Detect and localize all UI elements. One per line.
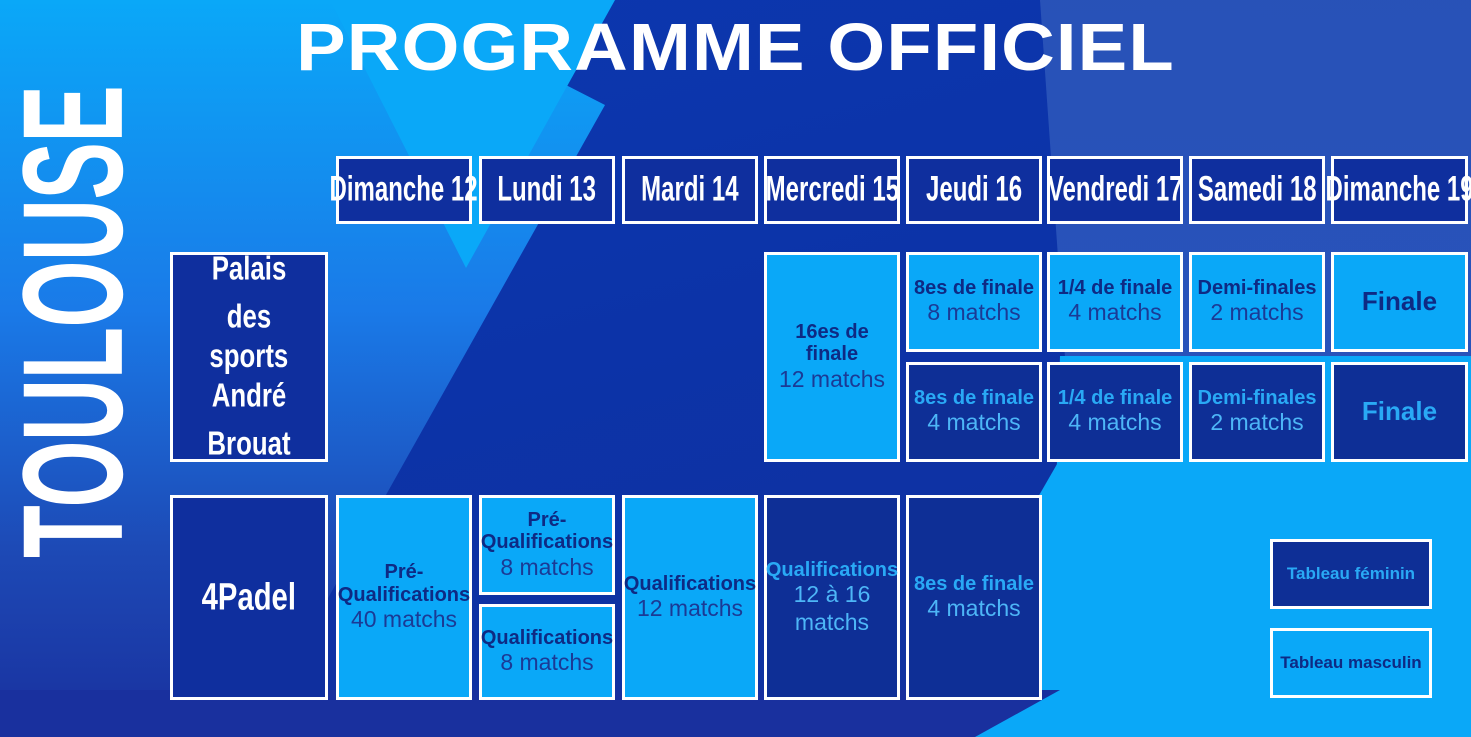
day-header-2: Mardi 14 xyxy=(622,156,758,224)
round-label: Demi-finales xyxy=(1198,277,1317,299)
day-header-6: Samedi 18 xyxy=(1189,156,1325,224)
match-count: 12 matchs xyxy=(779,366,885,394)
cell-qualif-8[interactable]: Qualifications 8 matchs xyxy=(479,604,615,700)
day-label: Mardi 14 xyxy=(641,170,738,210)
cell-finale-men[interactable]: Finale xyxy=(1331,252,1468,352)
day-label: Dimanche 12 xyxy=(330,170,478,210)
day-header-7: Dimanche 19 xyxy=(1331,156,1468,224)
match-count: 2 matchs xyxy=(1210,409,1303,437)
match-count: 8 matchs xyxy=(927,299,1020,327)
match-count-line2: matchs xyxy=(795,609,869,637)
day-header-3: Mercredi 15 xyxy=(764,156,900,224)
match-count: 8 matchs xyxy=(500,554,593,582)
round-label-line1: Pré- xyxy=(528,509,567,531)
day-label: Dimanche 19 xyxy=(1325,170,1471,210)
day-header-5: Vendredi 17 xyxy=(1047,156,1183,224)
venue-4padel: 4Padel xyxy=(170,495,328,700)
poster-root: PROGRAMME OFFICIEL TOULOUSE Dimanche 12 … xyxy=(0,0,1471,737)
round-label-line2: Qualifications xyxy=(481,531,613,553)
city-label: TOULOUSE xyxy=(13,57,133,617)
match-count: 4 matchs xyxy=(1068,409,1161,437)
venue-label: 4Padel xyxy=(202,570,296,624)
cell-16es-men[interactable]: 16es de finale 12 matchs xyxy=(764,252,900,462)
cell-qualif-12-16[interactable]: Qualifications 12 à 16 matchs xyxy=(764,495,900,700)
page-title: PROGRAMME OFFICIEL xyxy=(0,8,1471,86)
round-label: 8es de finale xyxy=(914,387,1034,409)
round-label: Finale xyxy=(1362,287,1437,316)
match-count: 2 matchs xyxy=(1210,299,1303,327)
round-label: Finale xyxy=(1362,397,1437,426)
day-header-0: Dimanche 12 xyxy=(336,156,472,224)
cell-demi-women[interactable]: Demi-finales 2 matchs xyxy=(1189,362,1325,462)
day-label: Lundi 13 xyxy=(498,170,597,210)
cell-8es-men[interactable]: 8es de finale 8 matchs xyxy=(906,252,1042,352)
day-header-1: Lundi 13 xyxy=(479,156,615,224)
legend-label: Tableau masculin xyxy=(1280,653,1421,673)
match-count: 4 matchs xyxy=(927,409,1020,437)
match-count: 4 matchs xyxy=(1068,299,1161,327)
match-count: 4 matchs xyxy=(927,595,1020,623)
round-label: Qualifications xyxy=(481,627,613,649)
match-count-line1: 12 à 16 xyxy=(794,581,871,609)
round-label: 1/4 de finale xyxy=(1058,277,1173,299)
venue-line-3: André Brouat xyxy=(186,373,312,468)
round-label-line1: Pré- xyxy=(385,561,424,583)
cell-8es-women[interactable]: 8es de finale 4 matchs xyxy=(906,362,1042,462)
day-label: Mercredi 15 xyxy=(765,170,898,210)
round-label: Demi-finales xyxy=(1198,387,1317,409)
cell-prequalif-8[interactable]: Pré- Qualifications 8 matchs xyxy=(479,495,615,595)
cell-finale-women[interactable]: Finale xyxy=(1331,362,1468,462)
legend-label: Tableau féminin xyxy=(1287,564,1415,584)
day-label: Jeudi 16 xyxy=(926,170,1022,210)
cell-demi-men[interactable]: Demi-finales 2 matchs xyxy=(1189,252,1325,352)
venue-line-1: Palais des xyxy=(186,245,312,340)
legend-tableau-feminin: Tableau féminin xyxy=(1270,539,1432,609)
cell-quart-men[interactable]: 1/4 de finale 4 matchs xyxy=(1047,252,1183,352)
round-label: Qualifications xyxy=(624,573,756,595)
legend-tableau-masculin: Tableau masculin xyxy=(1270,628,1432,698)
day-header-4: Jeudi 16 xyxy=(906,156,1042,224)
round-label-line2: Qualifications xyxy=(338,584,470,606)
cell-prequalif-40[interactable]: Pré- Qualifications 40 matchs xyxy=(336,495,472,700)
city-text: TOULOUSE xyxy=(0,86,152,558)
match-count: 8 matchs xyxy=(500,649,593,677)
match-count: 12 matchs xyxy=(637,595,743,623)
cell-8es-padel-women[interactable]: 8es de finale 4 matchs xyxy=(906,495,1042,700)
match-count: 40 matchs xyxy=(351,606,457,634)
cell-quart-women[interactable]: 1/4 de finale 4 matchs xyxy=(1047,362,1183,462)
venue-palais-des-sports: Palais des sports André Brouat xyxy=(170,252,328,462)
round-label: 16es de finale xyxy=(770,321,894,366)
round-label: 8es de finale xyxy=(914,277,1034,299)
cell-qualif-12[interactable]: Qualifications 12 matchs xyxy=(622,495,758,700)
round-label: 8es de finale xyxy=(914,573,1034,595)
round-label: Qualifications xyxy=(766,559,898,581)
day-label: Vendredi 17 xyxy=(1048,170,1183,210)
day-label: Samedi 18 xyxy=(1198,170,1317,210)
round-label: 1/4 de finale xyxy=(1058,387,1173,409)
